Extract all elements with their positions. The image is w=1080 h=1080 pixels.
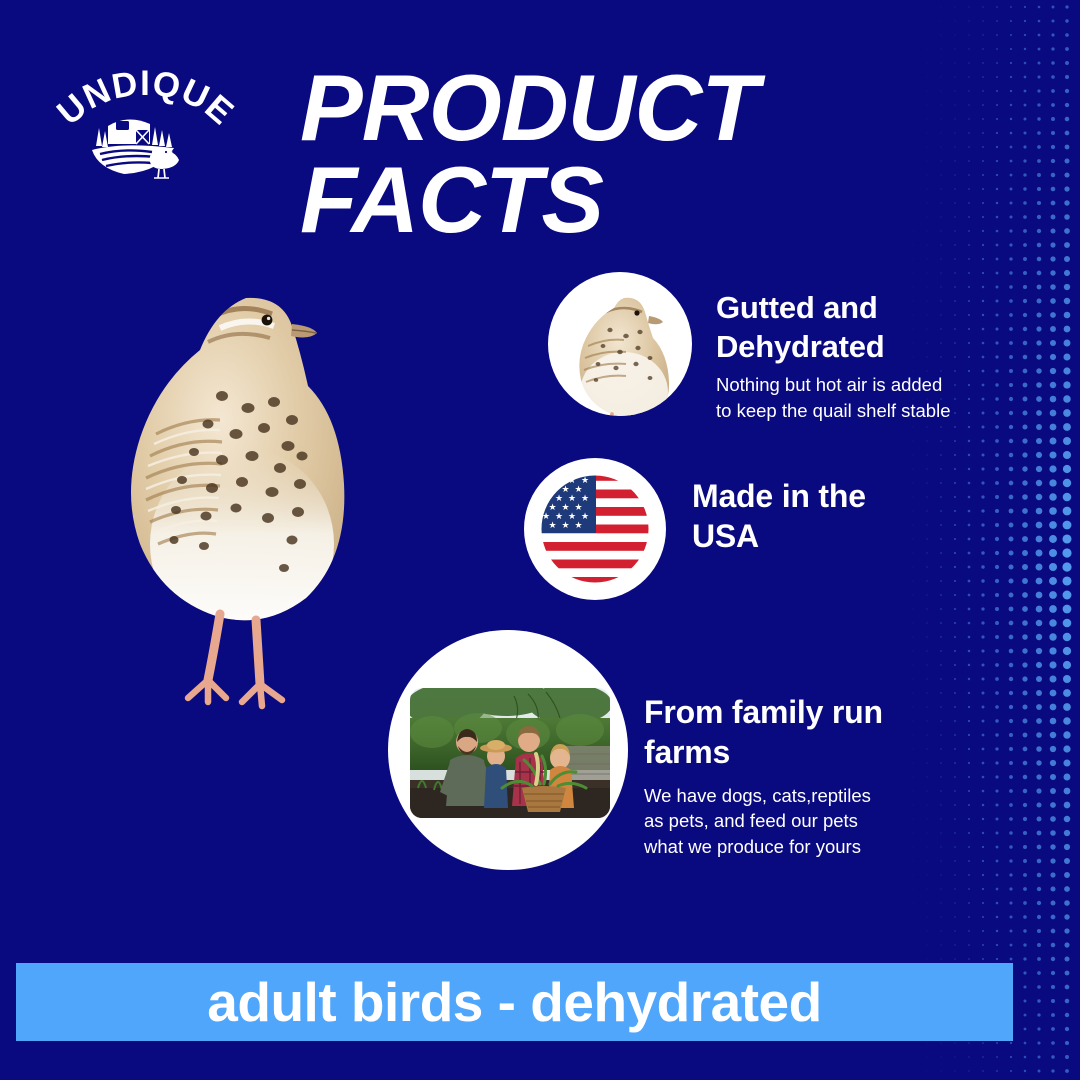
- page-title: PRODUCT FACTS: [300, 62, 860, 246]
- svg-text:★: ★: [548, 521, 556, 531]
- svg-text:★: ★: [561, 521, 569, 531]
- page-title-line-2: FACTS: [300, 154, 860, 246]
- feature-1-title: Gutted and Dehydrated: [716, 288, 951, 366]
- product-variant-banner: adult birds - dehydrated: [16, 963, 1013, 1041]
- page-title-line-1: PRODUCT: [300, 62, 860, 154]
- usa-flag-badge: ★★★★ ★★★ ★★★★ ★★★ ★★★★ ★★★: [524, 458, 666, 600]
- feature-3-text: From family run farms We have dogs, cats…: [644, 692, 883, 859]
- usa-flag-icon: ★★★★ ★★★ ★★★★ ★★★ ★★★★ ★★★: [524, 458, 666, 600]
- feature-1-subtitle: Nothing but hot air is added to keep the…: [716, 372, 951, 423]
- feature-2-text: Made in the USA: [692, 476, 866, 557]
- feature-made-in-usa: ★★★★ ★★★ ★★★★ ★★★ ★★★★ ★★★ Made in the U…: [524, 458, 866, 600]
- farm-scene-icon: [92, 119, 179, 178]
- feature-3-title: From family run farms: [644, 692, 883, 773]
- halftone-dot-pattern: [850, 0, 1080, 1080]
- quail-photo-badge: [548, 272, 692, 416]
- quail-photo-icon: [548, 272, 692, 416]
- feature-gutted-dehydrated: Gutted and Dehydrated Nothing but hot ai…: [548, 272, 951, 423]
- product-facts-poster: UNDIQUE: [0, 0, 1080, 1080]
- feature-1-text: Gutted and Dehydrated Nothing but hot ai…: [716, 288, 951, 423]
- svg-text:★: ★: [574, 521, 582, 531]
- banner-label: adult birds - dehydrated: [207, 975, 821, 1030]
- feature-2-title: Made in the USA: [692, 476, 866, 557]
- family-farm-badge: [388, 630, 628, 870]
- feature-family-run-farms: From family run farms We have dogs, cats…: [388, 630, 883, 870]
- feature-3-subtitle: We have dogs, cats,reptiles as pets, and…: [644, 783, 883, 860]
- brand-logo: UNDIQUE: [38, 62, 253, 202]
- hero-quail-image: [96, 268, 386, 713]
- family-farm-photo-icon: [410, 688, 610, 818]
